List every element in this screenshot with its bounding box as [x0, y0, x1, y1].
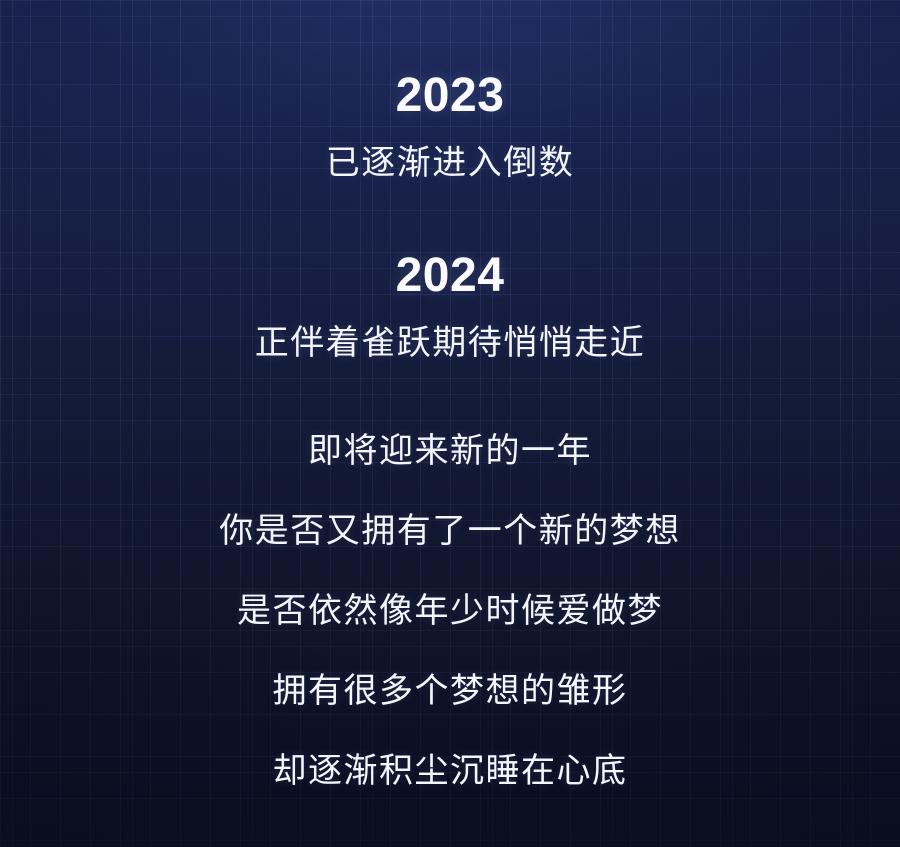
year-block-2024: 2024: [0, 252, 900, 300]
verse-line: 即将迎来新的一年: [0, 434, 900, 468]
verse-line: 却逐渐积尘沉睡在心底: [0, 754, 900, 788]
verse-list: 即将迎来新的一年 你是否又拥有了一个新的梦想 是否依然像年少时候爱做梦 拥有很多…: [0, 434, 900, 788]
poster-content: 2023 已逐渐进入倒数 2024 正伴着雀跃期待悄悄走近 即将迎来新的一年 你…: [0, 0, 900, 847]
year-block-2023: 2023: [0, 72, 900, 120]
year-subtitle-2023: 已逐渐进入倒数: [326, 146, 575, 180]
verse-line: 是否依然像年少时候爱做梦: [0, 594, 900, 628]
verse-line: 拥有很多个梦想的雏形: [0, 674, 900, 708]
new-year-poster: 2023 已逐渐进入倒数 2024 正伴着雀跃期待悄悄走近 即将迎来新的一年 你…: [0, 0, 900, 847]
verse-line: 你是否又拥有了一个新的梦想: [0, 514, 900, 548]
year-heading-2023: 2023: [0, 72, 900, 120]
year-subtitle-2024: 正伴着雀跃期待悄悄走近: [255, 326, 646, 360]
year-heading-2024: 2024: [0, 252, 900, 300]
